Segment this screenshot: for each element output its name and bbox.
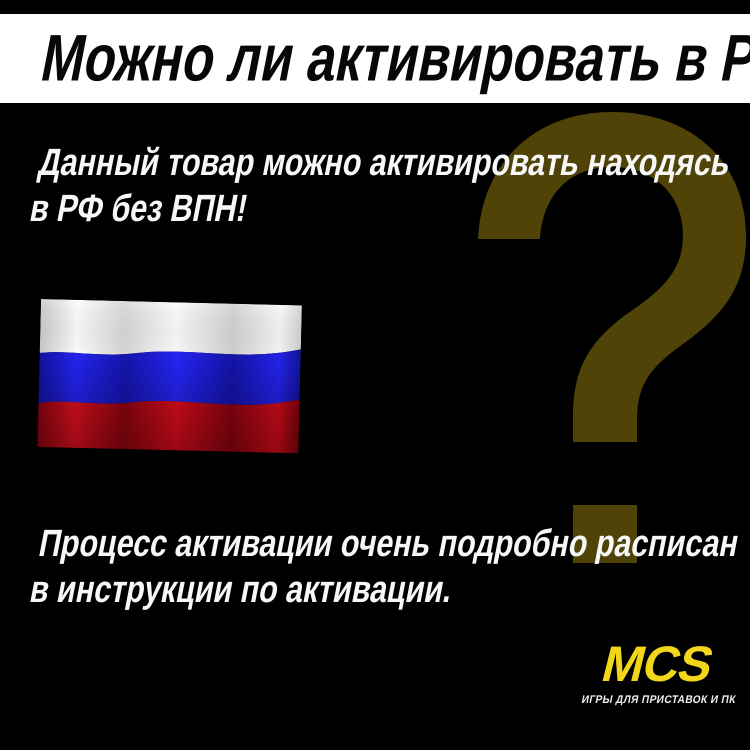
intro-line-2: в РФ без ВПН! [26, 186, 725, 232]
outro-line-1: Процесс активации очень подробно расписа… [35, 521, 743, 567]
logo-tagline: ИГРЫ ДЛЯ ПРИСТАВОК И ПК [580, 694, 734, 707]
outro-line-2: в инструкции по активации. [26, 567, 734, 613]
page-title: Можно ли активировать в РФ? [37, 24, 750, 90]
intro-paragraph: Данный товар можно активировать находясь… [26, 140, 734, 232]
header-band: Можно ли активировать в РФ? [0, 14, 750, 103]
promo-banner: Можно ли активировать в РФ? Данный товар… [0, 0, 750, 750]
logo-wordmark: MCS [569, 638, 747, 690]
outro-paragraph: Процесс активации очень подробно расписа… [26, 521, 743, 613]
russian-flag [37, 299, 302, 453]
intro-line-1: Данный товар можно активировать находясь [35, 140, 734, 186]
brand-logo[interactable]: MCS ИГРЫ ДЛЯ ПРИСТАВОК И ПК [575, 638, 740, 716]
